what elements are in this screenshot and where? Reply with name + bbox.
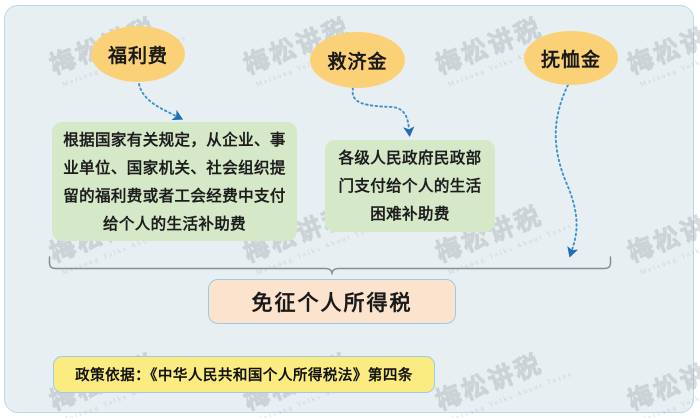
definition-box-welfare[interactable]: 根据国家有关规定，从企业、事业单位、国家机关、社会组织提留的福利费或者工会经费中… (52, 122, 297, 241)
source-label: 抚恤金 (541, 45, 601, 72)
source-label: 救济金 (327, 47, 387, 74)
source-node-welfare-fee[interactable]: 福利费 (91, 26, 185, 82)
policy-basis-box[interactable]: 政策依据：《中华人民共和国个人所得税法》第四条 (53, 356, 435, 393)
source-node-pension-fund[interactable]: 抚恤金 (524, 31, 618, 85)
conclusion-box[interactable]: 免征个人所得税 (208, 279, 456, 324)
definition-text: 根据国家有关规定，从企业、事业单位、国家机关、社会组织提留的福利费或者工会经费中… (60, 126, 289, 238)
policy-basis-label: 政策依据：《中华人民共和国个人所得税法》第四条 (75, 364, 413, 385)
source-label: 福利费 (108, 41, 168, 68)
definition-box-relief[interactable]: 各级人民政府民政部门支付给个人的生活困难补助费 (325, 140, 495, 232)
conclusion-label: 免征个人所得税 (252, 287, 413, 317)
diagram-canvas: 梅松讲税 Meisong Talks About Taxes 梅松讲税 Meis… (0, 0, 700, 418)
definition-text: 各级人民政府民政部门支付给个人的生活困难补助费 (333, 144, 487, 228)
source-node-relief-fund[interactable]: 救济金 (310, 32, 405, 88)
